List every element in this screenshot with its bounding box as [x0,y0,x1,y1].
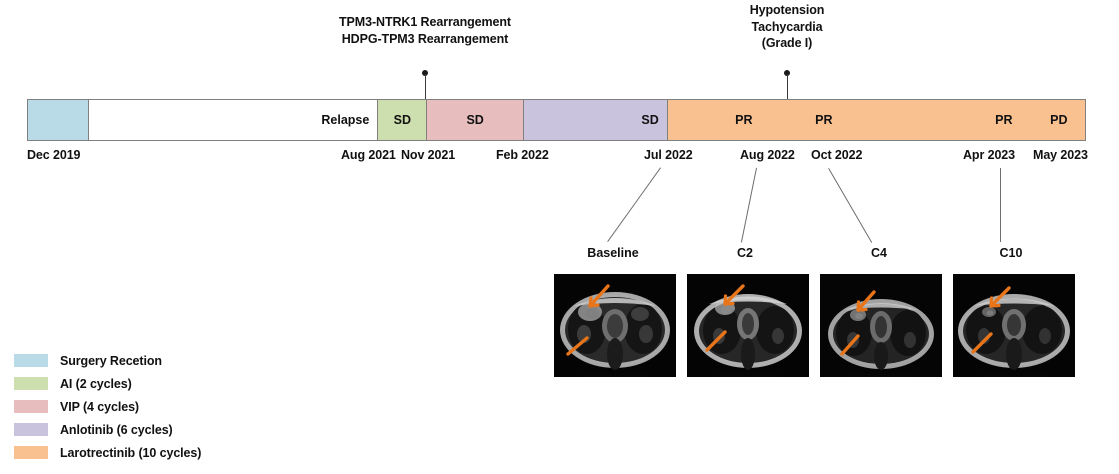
mri-scan-baseline [554,274,676,377]
clinical-timeline-figure: TPM3-NTRK1 Rearrangement HDPG-TPM3 Rearr… [0,0,1119,474]
pelvic-mri-axial-image [554,274,676,377]
segment-label-response: SD [427,113,523,127]
timeline-segment-ai: SD [378,100,427,140]
date-tick-label: Apr 2023 [963,148,1015,162]
response-label: PR [995,113,1012,127]
date-tick-label: Dec 2019 [27,148,80,162]
date-tick-label: Oct 2022 [811,148,862,162]
event-label-molecular-findings: TPM3-NTRK1 Rearrangement HDPG-TPM3 Rearr… [225,14,625,47]
timeline-segment-larotrectinib: PR PR PR PD [668,100,1085,140]
pelvic-mri-axial-image [687,274,809,377]
response-label: PR [735,113,752,127]
pelvic-mri-axial-image [820,274,942,377]
scan-leader-line [741,168,757,242]
legend-item: Larotrectinib (10 cycles) [14,441,201,464]
response-label: PD [1050,113,1067,127]
date-tick-label: Aug 2022 [740,148,795,162]
scan-caption-c10: C10 [1000,246,1023,260]
scan-leader-line [828,168,872,242]
legend-item-label: Anlotinib (6 cycles) [60,423,173,437]
timeline-segment-surgery [28,100,89,140]
response-label: PR [815,113,832,127]
timeline-segment-vip: SD [427,100,524,140]
segment-label-response: SD [378,113,426,127]
pelvic-mri-axial-image [953,274,1075,377]
timeline-segment-observation: Relapse [89,100,378,140]
scan-leader-line [1000,168,1001,242]
event-line: HDPG-TPM3 Rearrangement [225,31,625,48]
date-tick-label: Jul 2022 [644,148,693,162]
event-line: Hypotension [587,2,987,19]
event-line: TPM3-NTRK1 Rearrangement [225,14,625,31]
treatment-legend: Surgery Recetion AI (2 cycles) VIP (4 cy… [14,349,201,464]
legend-item-label: AI (2 cycles) [60,377,132,391]
legend-item: Surgery Recetion [14,349,201,372]
event-line: (Grade I) [587,35,987,52]
date-tick-label: Feb 2022 [496,148,549,162]
legend-item-label: Larotrectinib (10 cycles) [60,446,201,460]
date-tick-label: Nov 2021 [401,148,455,162]
scan-caption-c2: C2 [737,246,753,260]
legend-color-swatch [14,423,48,436]
segment-label-response: SD [641,113,666,127]
scan-leader-line [607,167,661,242]
legend-item: Anlotinib (6 cycles) [14,418,201,441]
mri-scan-c4 [820,274,942,377]
legend-color-swatch [14,354,48,367]
legend-color-swatch [14,446,48,459]
legend-color-swatch [14,377,48,390]
scan-caption-baseline: Baseline [587,246,638,260]
scan-caption-c4: C4 [871,246,887,260]
legend-item: VIP (4 cycles) [14,395,201,418]
legend-item-label: VIP (4 cycles) [60,400,139,414]
event-line: Tachycardia [587,19,987,36]
segment-label-relapse: Relapse [321,113,377,127]
event-label-adverse-events: Hypotension Tachycardia (Grade I) [587,2,987,52]
legend-item: AI (2 cycles) [14,372,201,395]
timeline-segment-anlotinib: SD [524,100,668,140]
legend-item-label: Surgery Recetion [60,354,162,368]
mri-scan-c10 [953,274,1075,377]
legend-color-swatch [14,400,48,413]
date-tick-label: Aug 2021 [341,148,396,162]
treatment-timeline-bar: Relapse SD SD SD PR PR PR PD [27,99,1086,141]
mri-scan-c2 [687,274,809,377]
date-tick-label: May 2023 [1033,148,1088,162]
